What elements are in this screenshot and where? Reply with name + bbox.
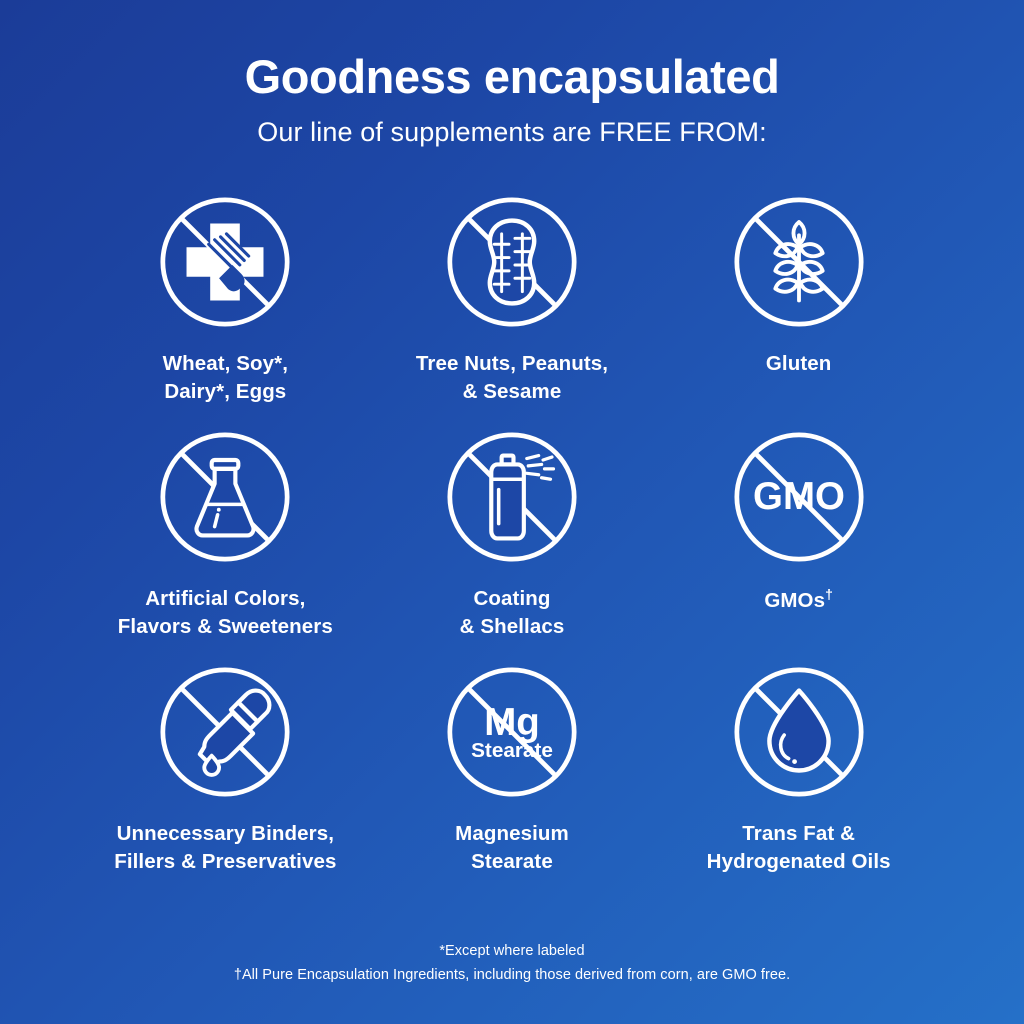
free-from-label: Coating & Shellacs bbox=[460, 585, 565, 640]
label-line-2: & Sesame bbox=[463, 380, 562, 403]
label-line-1: Artificial Colors, bbox=[145, 587, 305, 610]
footnote-dagger: †All Pure Encapsulation Ingredients, inc… bbox=[0, 963, 1024, 988]
no-binders-fillers-preservatives-icon bbox=[151, 658, 299, 806]
label-line-2: Fillers & Preservatives bbox=[114, 850, 336, 873]
free-from-label: Wheat, Soy*, Dairy*, Eggs bbox=[163, 350, 288, 405]
free-from-label: Trans Fat & Hydrogenated Oils bbox=[707, 820, 891, 875]
free-from-item-gmo: GMO GMOs† bbox=[655, 423, 942, 658]
label-line-2: Dairy*, Eggs bbox=[164, 380, 286, 403]
free-from-label: Unnecessary Binders, Fillers & Preservat… bbox=[114, 820, 336, 875]
mg-text-icon: Mg bbox=[484, 701, 540, 744]
label-line-2: & Shellacs bbox=[460, 615, 565, 638]
no-tree-nuts-peanuts-sesame-icon bbox=[438, 188, 586, 336]
page-subtitle: Our line of supplements are FREE FROM: bbox=[257, 117, 766, 148]
free-from-item-trans-fat: Trans Fat & Hydrogenated Oils bbox=[655, 658, 942, 893]
label-line-1: Trans Fat & bbox=[742, 822, 855, 845]
free-from-item-coating-shellacs: Coating & Shellacs bbox=[369, 423, 656, 658]
gmo-text-icon: GMO bbox=[753, 475, 845, 518]
free-from-item-gluten: Gluten bbox=[655, 188, 942, 423]
no-artificial-colors-icon bbox=[151, 423, 299, 571]
stearate-text-icon: Stearate bbox=[471, 740, 553, 763]
free-from-item-tree-nuts-peanuts-sesame: Tree Nuts, Peanuts, & Sesame bbox=[369, 188, 656, 423]
label-line-1: Gluten bbox=[766, 352, 832, 375]
free-from-item-magnesium-stearate: Mg Stearate Magnesium Stearate bbox=[369, 658, 656, 893]
footnote-asterisk: *Except where labeled bbox=[0, 939, 1024, 964]
no-gmo-icon: GMO bbox=[725, 423, 873, 571]
dagger-symbol: † bbox=[825, 586, 833, 602]
label-line-1: Magnesium bbox=[455, 822, 569, 845]
footnotes: *Except where labeled †All Pure Encapsul… bbox=[0, 939, 1024, 988]
label-line-2: Stearate bbox=[471, 850, 553, 873]
free-from-label: Tree Nuts, Peanuts, & Sesame bbox=[416, 350, 608, 405]
no-magnesium-stearate-icon: Mg Stearate bbox=[438, 658, 586, 806]
free-from-label: Magnesium Stearate bbox=[455, 820, 569, 875]
label-line-2: Flavors & Sweeteners bbox=[118, 615, 333, 638]
label-line-1: Unnecessary Binders, bbox=[117, 822, 334, 845]
label-line-1: Wheat, Soy*, bbox=[163, 352, 288, 375]
infographic-page: Goodness encapsulated Our line of supple… bbox=[0, 0, 1024, 1024]
no-wheat-soy-dairy-eggs-icon bbox=[151, 188, 299, 336]
free-from-grid: Wheat, Soy*, Dairy*, Eggs bbox=[82, 188, 942, 893]
no-coating-shellacs-icon bbox=[438, 423, 586, 571]
free-from-label: GMOs† bbox=[764, 585, 833, 614]
label-line-1: Tree Nuts, Peanuts, bbox=[416, 352, 608, 375]
label-line-1: Coating bbox=[473, 587, 550, 610]
free-from-item-binders-fillers-preservatives: Unnecessary Binders, Fillers & Preservat… bbox=[82, 658, 369, 893]
no-gluten-icon bbox=[725, 188, 873, 336]
free-from-label: Gluten bbox=[766, 350, 832, 377]
label-line-2: Hydrogenated Oils bbox=[707, 850, 891, 873]
free-from-item-artificial-colors: Artificial Colors, Flavors & Sweeteners bbox=[82, 423, 369, 658]
label-line-1: GMOs bbox=[764, 589, 825, 612]
page-title: Goodness encapsulated bbox=[245, 52, 780, 101]
free-from-label: Artificial Colors, Flavors & Sweeteners bbox=[118, 585, 333, 640]
free-from-item-wheat-soy-dairy-eggs: Wheat, Soy*, Dairy*, Eggs bbox=[82, 188, 369, 423]
no-trans-fat-icon bbox=[725, 658, 873, 806]
